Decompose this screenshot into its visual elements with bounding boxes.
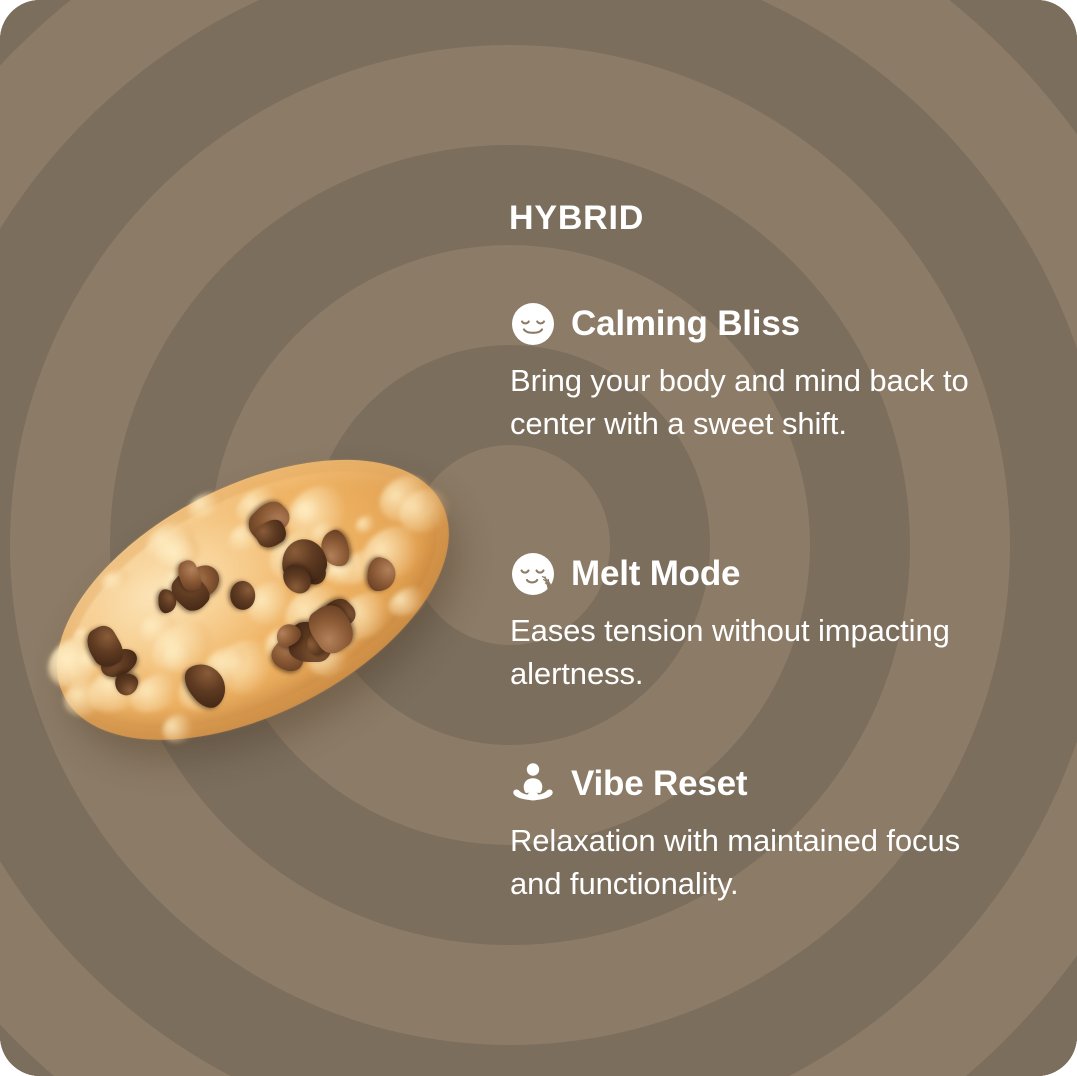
page-title: HYBRID: [509, 201, 644, 235]
feature-description: Bring your body and mind back to center …: [510, 360, 1010, 446]
hybrid-product-benefits-card: HYBRID Calming Bliss Bring your body and…: [0, 0, 1077, 1076]
feature-heading: Calming Bliss: [509, 300, 1014, 348]
person-in-lotus-position-icon: [509, 760, 557, 808]
feature-title: Vibe Reset: [571, 766, 747, 803]
feature-description: Relaxation with maintained focus and fun…: [510, 820, 1010, 906]
feature-calming-bliss: Calming Bliss Bring your body and mind b…: [509, 300, 1014, 446]
relieved-face-icon: [509, 300, 557, 348]
feature-description: Eases tension without impacting alertnes…: [510, 610, 1010, 696]
feature-melt-mode: Melt Mode Eases tension without impactin…: [509, 550, 1014, 696]
feature-vibe-reset: Vibe Reset Relaxation with maintained fo…: [509, 760, 1014, 906]
feature-title: Calming Bliss: [571, 306, 800, 343]
feature-title: Melt Mode: [571, 556, 740, 593]
chocolate-chip-cookie-image: [22, 398, 482, 798]
feature-heading: Vibe Reset: [509, 760, 1014, 808]
benefits-content: HYBRID Calming Bliss Bring your body and…: [509, 0, 1029, 1076]
feature-heading: Melt Mode: [509, 550, 1014, 598]
dozing-face-icon: [509, 550, 557, 598]
